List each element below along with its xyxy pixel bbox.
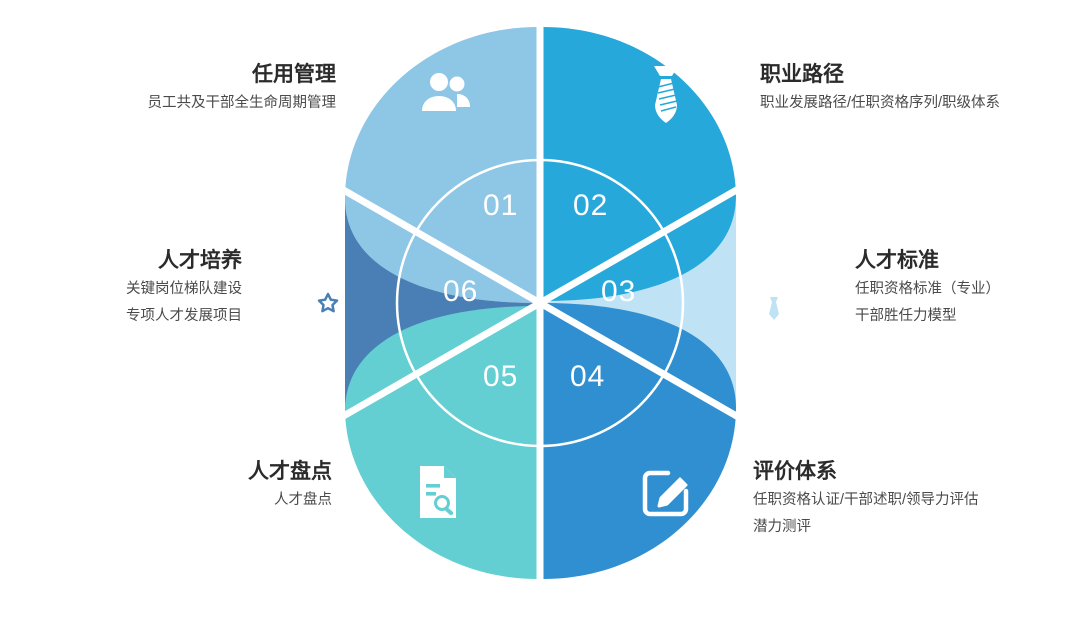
label-01-desc-0: 员工共及干部全生命周期管理 — [60, 90, 336, 117]
label-01-title: 任用管理 — [60, 60, 336, 90]
label-06-desc-1: 专项人才发展项目 — [30, 303, 242, 330]
label-04: 评价体系 任职资格认证/干部述职/领导力评估 潜力测评 — [753, 457, 1081, 541]
segment-number-06: 06 — [443, 275, 478, 309]
edit-square-icon — [638, 465, 694, 521]
document-search-icon — [410, 462, 466, 522]
label-02: 职业路径 职业发展路径/任职资格序列/职级体系 — [760, 60, 1080, 117]
label-04-title: 评价体系 — [753, 457, 1081, 487]
label-01: 任用管理 员工共及干部全生命周期管理 — [60, 60, 336, 117]
label-03-desc-0: 任职资格标准（专业） — [855, 276, 1081, 303]
label-03-title: 人才标准 — [855, 246, 1081, 276]
segment-number-03: 03 — [601, 275, 636, 309]
segment-number-04: 04 — [570, 360, 605, 394]
label-03-desc-1: 干部胜任力模型 — [855, 303, 1081, 330]
person-tie-icon — [745, 268, 803, 330]
label-04-desc-0: 任职资格认证/干部述职/领导力评估 — [753, 487, 1081, 514]
label-05: 人才盘点 人才盘点 — [60, 457, 332, 514]
segment-number-01: 01 — [483, 189, 518, 223]
users-icon — [414, 64, 474, 124]
label-02-desc-0: 职业发展路径/任职资格序列/职级体系 — [760, 90, 1080, 117]
necktie-icon — [636, 60, 696, 130]
label-06-title: 人才培养 — [30, 246, 242, 276]
diagram-canvas: 01 02 03 04 05 06 — [0, 0, 1081, 626]
label-05-desc-0: 人才盘点 — [60, 487, 332, 514]
segment-number-02: 02 — [573, 189, 608, 223]
label-05-title: 人才盘点 — [60, 457, 332, 487]
label-06: 人才培养 关键岗位梯队建设 专项人才发展项目 — [30, 246, 242, 330]
label-06-desc-0: 关键岗位梯队建设 — [30, 276, 242, 303]
label-04-desc-1: 潜力测评 — [753, 514, 1081, 541]
label-03: 人才标准 任职资格标准（专业） 干部胜任力模型 — [855, 246, 1081, 330]
segment-number-05: 05 — [483, 360, 518, 394]
user-star-icon — [286, 268, 346, 328]
label-02-title: 职业路径 — [760, 60, 1080, 90]
